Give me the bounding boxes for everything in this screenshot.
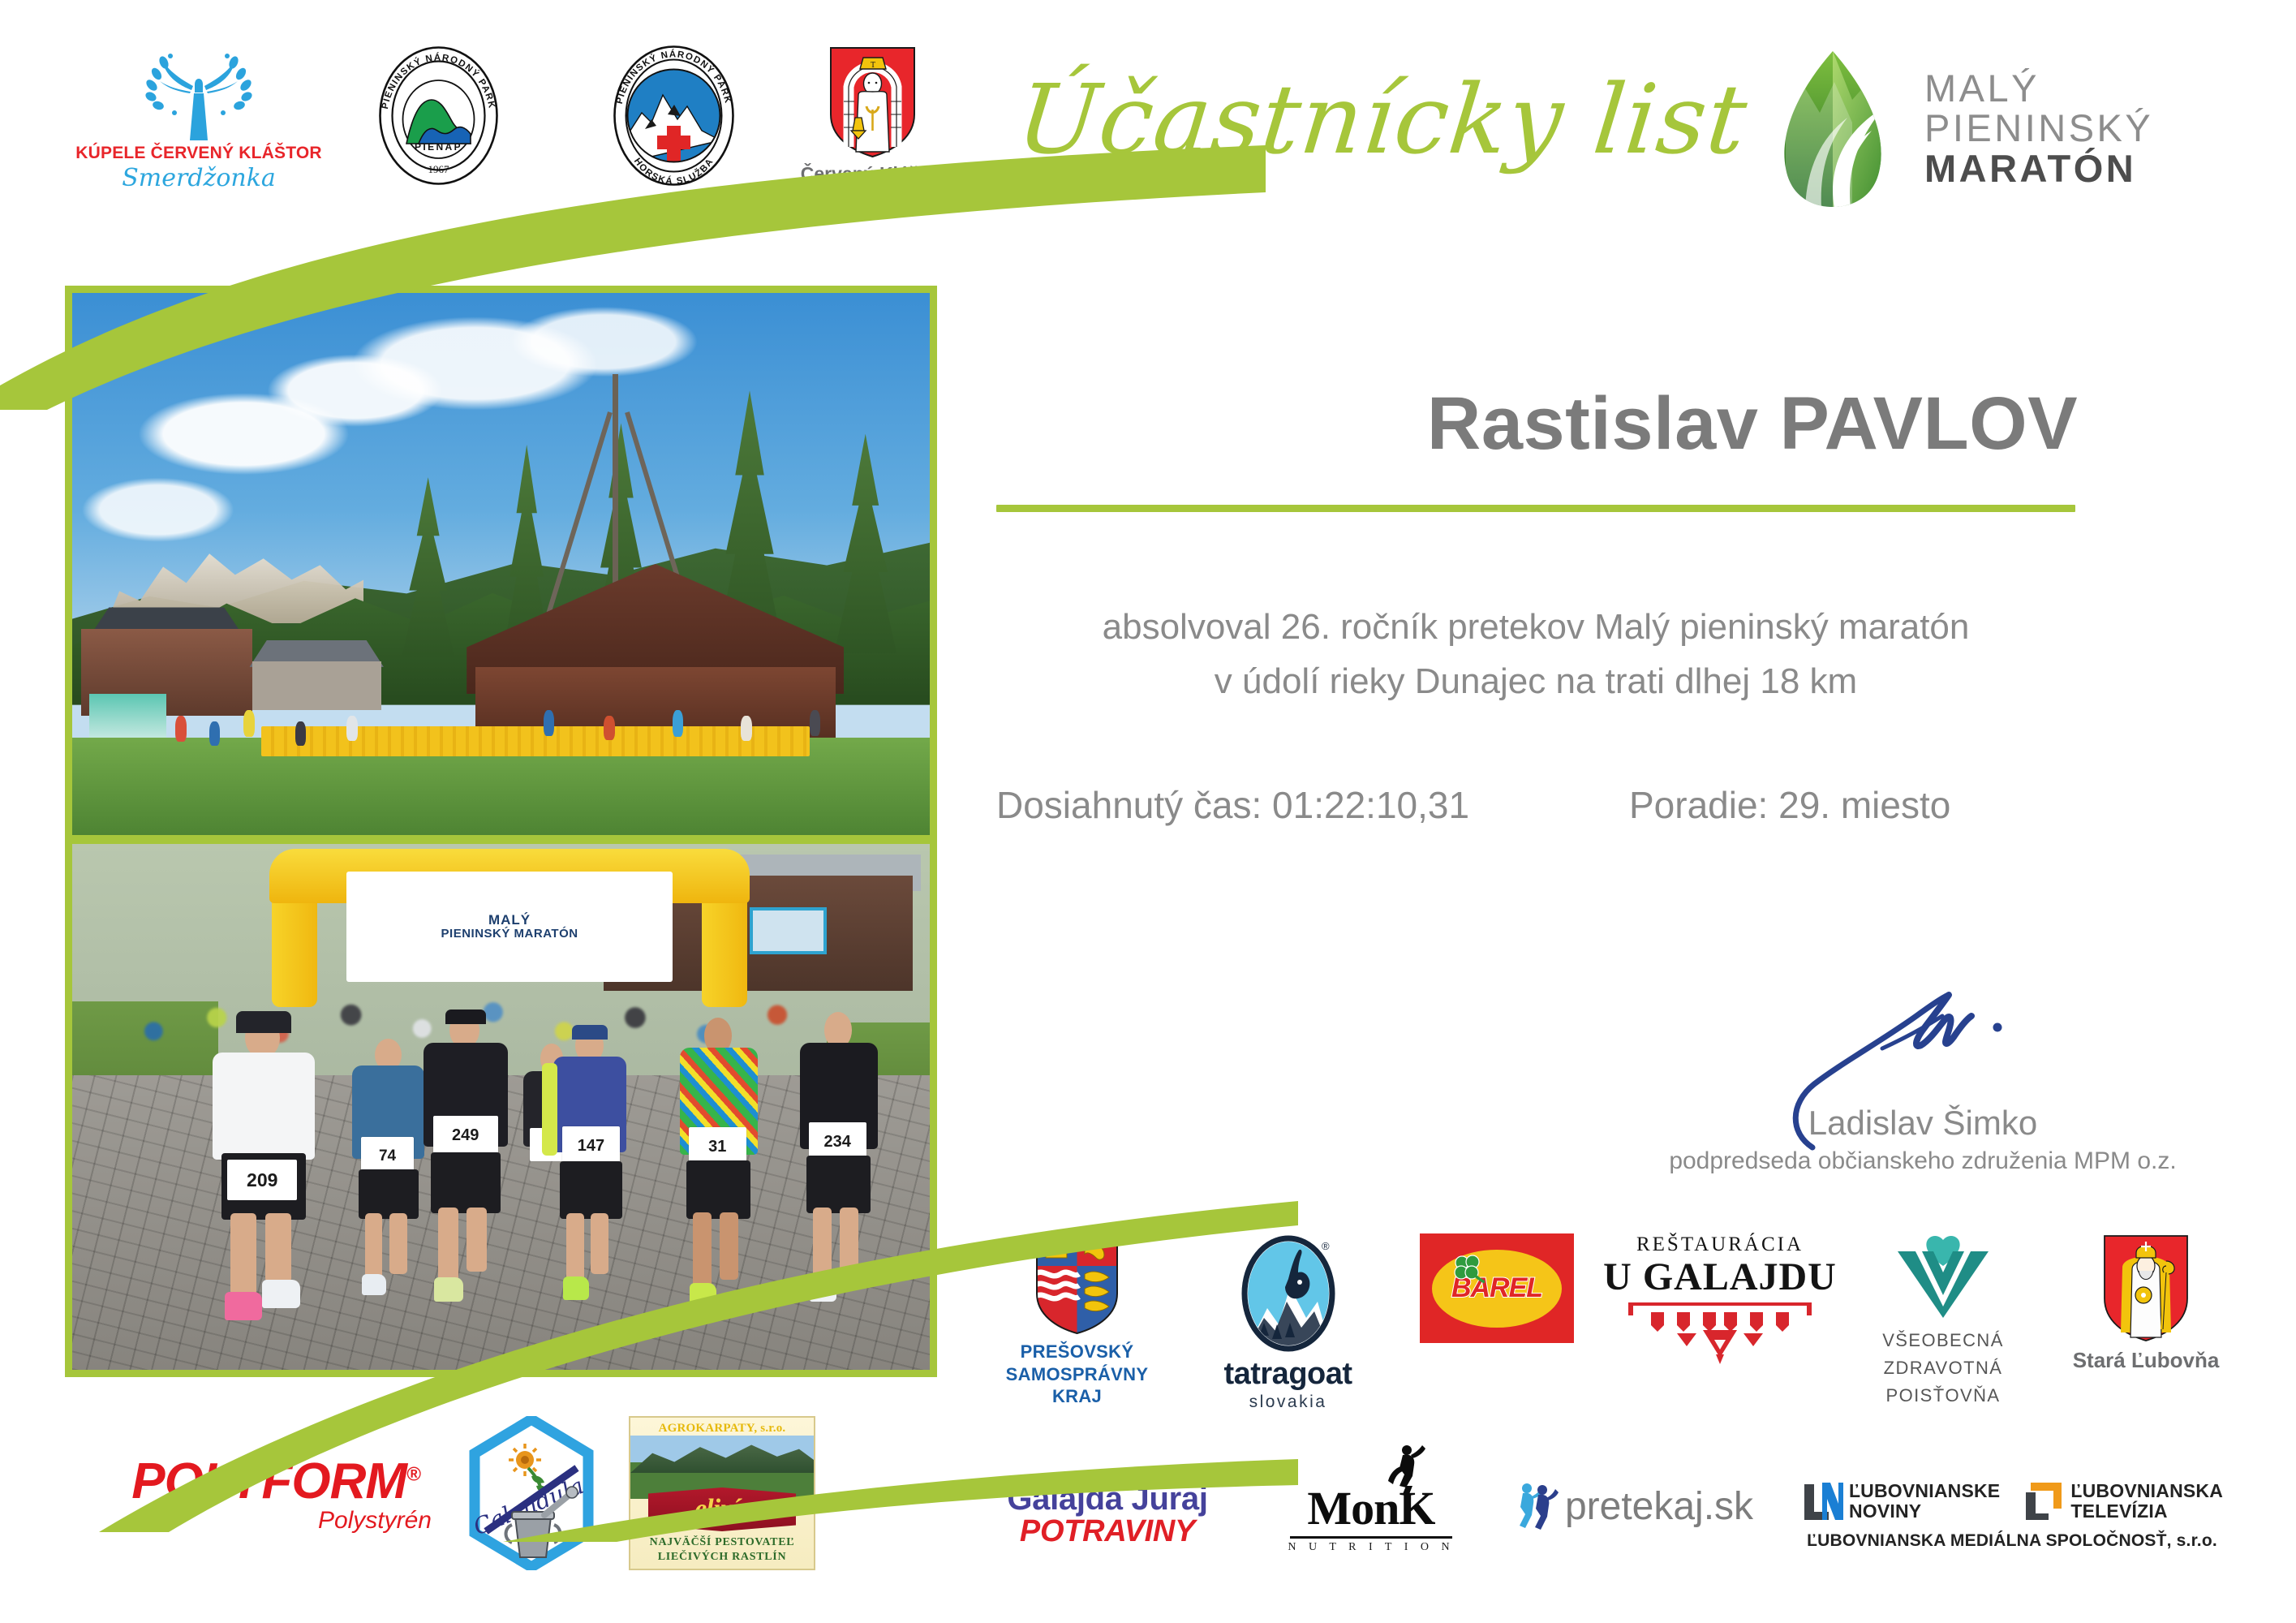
photo-divider — [72, 835, 930, 844]
elixir-line4: LIEČIVÝCH RASTLÍN — [630, 1551, 814, 1564]
vzp-line2: ZDRAVOTNÁ — [1882, 1354, 2004, 1382]
participant-name: Rastislav PAVLOV — [1249, 381, 2255, 467]
logo-horska-sluzba: PIENINSKÝ NÁRODNÝ PARK HORSKÁ SLUŽBA — [556, 45, 791, 187]
running-monk-silhouette-icon — [1385, 1444, 1427, 1494]
monk-rule — [1290, 1536, 1452, 1539]
elixir-wordmark: elixír — [694, 1494, 750, 1525]
result-row: Dosiahnutý čas: 01:22:10,31 Poradie: 29.… — [996, 783, 2132, 827]
svg-text:PIENAP: PIENAP — [414, 141, 462, 153]
logo-kupele-cerveny-klastor: KÚPELE ČERVENÝ KLÁŠTOR Smerdžonka — [77, 45, 320, 192]
galajdu-line1: REŠTAURÁCIA — [1636, 1233, 1804, 1256]
psk-line3: KRAJ — [1006, 1385, 1149, 1408]
quartered-shield-icon — [1034, 1233, 1120, 1335]
arch-line1: MALÝ — [488, 913, 531, 927]
pretekaj-wordmark: pretekaj.sk — [1565, 1484, 1753, 1529]
sponsor-row-bottom-left: POLYFORM® Polystyrén Calendula — [105, 1371, 941, 1615]
vzp-line1: VŠEOBECNÁ — [1882, 1327, 2004, 1354]
sponsor-row-primary: PREŠOVSKÝ SAMOSPRÁVNY KRAJ ® tatrago — [974, 1233, 2280, 1444]
lubovnianske-noviny: ĽUBOVNIANSKE NOVINY — [1801, 1481, 2000, 1522]
event-logo-wordmark: MALÝ PIENINSKÝ MARATÓN — [1924, 68, 2153, 188]
chamois-mountain-oval-icon: ® — [1240, 1233, 1337, 1354]
logo-line-pieninsky: PIENINSKÝ — [1924, 108, 2153, 148]
page-title: Účastnícky list — [1013, 63, 1752, 175]
sponsor-monk-nutrition: MonK N U T R I T I O N — [1241, 1481, 1501, 1554]
shield-bishop-icon — [2101, 1233, 2191, 1343]
polyform-subtitle: Polystyrén — [318, 1507, 432, 1535]
sponsor-polyform: POLYFORM® Polystyrén — [105, 1453, 446, 1535]
signature-block: Ladislav Šimko podpredseda občianskeho z… — [1615, 998, 2231, 1175]
psk-wordmark: PREŠOVSKÝ SAMOSPRÁVNY KRAJ — [1006, 1341, 1149, 1408]
photo-frame: MALÝ PIENINSKÝ MARATÓN 209 — [65, 286, 937, 1377]
circular-emblem-icon: PIENINSKÝ NÁRODNÝ PARK PIENAP 1967 — [368, 45, 510, 187]
svg-text:T: T — [870, 61, 875, 70]
sponsor-barel: BAREL — [1395, 1233, 1598, 1343]
logo-line-maly: MALÝ — [1924, 68, 2153, 108]
two-runners-icon — [1516, 1481, 1559, 1531]
svg-text:®: ® — [1322, 1240, 1330, 1252]
amphitheatre-event-photo — [72, 293, 930, 835]
ln-logo-icon — [1801, 1481, 1843, 1522]
event-logo: MALÝ PIENINSKÝ MARATÓN — [1756, 47, 2276, 209]
kupele-line1: KÚPELE ČERVENÝ KLÁŠTOR — [75, 144, 322, 163]
runner-209: 209 — [192, 1018, 338, 1333]
green-leaf-mountain-icon — [1756, 50, 1907, 208]
runner-249: 249 — [406, 1012, 527, 1317]
elixir-line3: NAJVÄČŠÍ PESTOVATEĽ — [630, 1536, 814, 1549]
partner-logo-row: KÚPELE ČERVENÝ KLÁŠTOR Smerdžonka PIENIN… — [77, 45, 953, 207]
lt-logo-icon — [2023, 1481, 2065, 1522]
galajda-line2: POTRAVINY — [1020, 1514, 1195, 1549]
medialna-spolocnost-footer: ĽUBOVNIANSKA MEDIÁLNA SPOLOČNOSŤ, s.r.o. — [1807, 1531, 2217, 1551]
description-line-2: v údolí rieky Dunajec na trati dlhej 18 … — [996, 655, 2075, 709]
noviny-line1: ĽUBOVNIANSKE — [1849, 1481, 2000, 1501]
teal-chevron-heart-icon — [1894, 1233, 1992, 1319]
televizia-line1: ĽUBOVNIANSKA — [2070, 1481, 2223, 1501]
polyform-trademark: ® — [406, 1463, 420, 1485]
sponsor-calendula: Calendula — [446, 1416, 617, 1570]
sponsor-vseobecna-zdravotna-poistovna: VŠEOBECNÁ ZDRAVOTNÁ POISŤOVŇA — [1842, 1233, 2044, 1410]
bib-number: 209 — [227, 1160, 297, 1201]
stara-lubovna-caption: Stará Ľubovňa — [2073, 1348, 2220, 1373]
four-leaf-clover-icon — [1451, 1253, 1485, 1287]
sponsor-row-secondary: Galajda Juraj POTRAVINY MonK N U T R I T… — [974, 1481, 2288, 1615]
kupele-line2: Smerdžonka — [122, 164, 276, 192]
photo-column: MALÝ PIENINSKÝ MARATÓN 209 — [65, 286, 937, 1377]
certificate-page: KÚPELE ČERVENÝ KLÁŠTOR Smerdžonka PIENIN… — [0, 0, 2296, 1623]
psk-line2: SAMOSPRÁVNY — [1006, 1363, 1149, 1386]
logo-line-maraton: MARATÓN — [1924, 149, 2153, 188]
polyform-wordmark: POLYFORM® — [131, 1453, 419, 1510]
accent-rule — [996, 505, 2075, 512]
sponsor-stara-lubovna: Stará Ľubovňa — [2044, 1233, 2247, 1373]
description-block: absolvoval 26. ročník pretekov Malý pien… — [996, 601, 2075, 709]
polyform-line1: POLYFORM — [131, 1453, 406, 1509]
race-start-photo: MALÝ PIENINSKÝ MARATÓN 209 — [72, 844, 930, 1370]
svg-text:1967: 1967 — [428, 163, 449, 175]
sponsor-u-galajdu: REŠTAURÁCIA U GALAJDU — [1598, 1233, 1842, 1366]
monk-subtitle: N U T R I T I O N — [1288, 1541, 1454, 1554]
result-time: Dosiahnutý čas: 01:22:10,31 — [996, 783, 1629, 827]
galajdu-line2: U GALAJDU — [1603, 1255, 1837, 1299]
shield-monk-bell-icon: T — [826, 45, 919, 158]
description-line-1: absolvoval 26. ročník pretekov Malý pien… — [996, 601, 2075, 655]
sponsor-tatragoat: ® tatragoat slovakia — [1180, 1233, 1395, 1412]
runner-31: 31 — [664, 1018, 775, 1323]
arch-line2: PIENINSKÝ MARATÓN — [441, 928, 578, 940]
runner-147: 147 — [535, 1028, 647, 1317]
sponsor-lubovnianska-medialna: ĽUBOVNIANSKE NOVINY ĽUBOVNIANSKA TELEVÍZ… — [1769, 1481, 2255, 1551]
handwritten-signature-icon — [1761, 974, 2028, 1160]
folk-ornament-icon — [1619, 1301, 1821, 1366]
logo-cerveny-klastor: T Červený Kláštor — [791, 45, 953, 185]
vzp-line3: POISŤOVŇA — [1882, 1382, 2004, 1410]
psk-line1: PREŠOVSKÝ — [1006, 1341, 1149, 1363]
bib-number: 249 — [433, 1116, 498, 1156]
logo-pienap: PIENINSKÝ NÁRODNÝ PARK PIENAP 1967 — [320, 45, 556, 187]
circular-emblem-mountain-cross-icon: PIENINSKÝ NÁRODNÝ PARK HORSKÁ SLUŽBA — [603, 45, 745, 187]
tatragoat-wordmark: tatragoat — [1223, 1357, 1352, 1392]
sponsor-presovsky-samospravny-kraj: PREŠOVSKÝ SAMOSPRÁVNY KRAJ — [974, 1233, 1180, 1408]
cerveny-klastor-caption: Červený Kláštor — [801, 163, 944, 185]
winged-water-figure-icon — [126, 45, 272, 142]
galajda-line1: Galajda Juraj — [1007, 1481, 1207, 1518]
televizia-line2: TELEVÍZIA — [2070, 1501, 2223, 1522]
result-rank: Poradie: 29. miesto — [1629, 783, 1950, 827]
tatragoat-country: slovakia — [1249, 1393, 1327, 1412]
sponsor-agrokarpaty-elixir: AGROKARPATY, s.r.o. PLAVNICA elixír NAJV… — [617, 1416, 828, 1570]
marigold-mortar-hexagon-icon: Calendula — [467, 1416, 596, 1570]
sponsor-galajda-juraj-potraviny: Galajda Juraj POTRAVINY — [974, 1481, 1241, 1549]
noviny-line2: NOVINY — [1849, 1501, 2000, 1522]
vzp-wordmark: VŠEOBECNÁ ZDRAVOTNÁ POISŤOVŇA — [1882, 1327, 2004, 1410]
runner-234: 234 — [784, 1012, 895, 1317]
lubovnianska-televizia: ĽUBOVNIANSKA TELEVÍZIA — [2023, 1481, 2223, 1522]
sponsor-pretekaj-sk: pretekaj.sk — [1501, 1481, 1769, 1531]
